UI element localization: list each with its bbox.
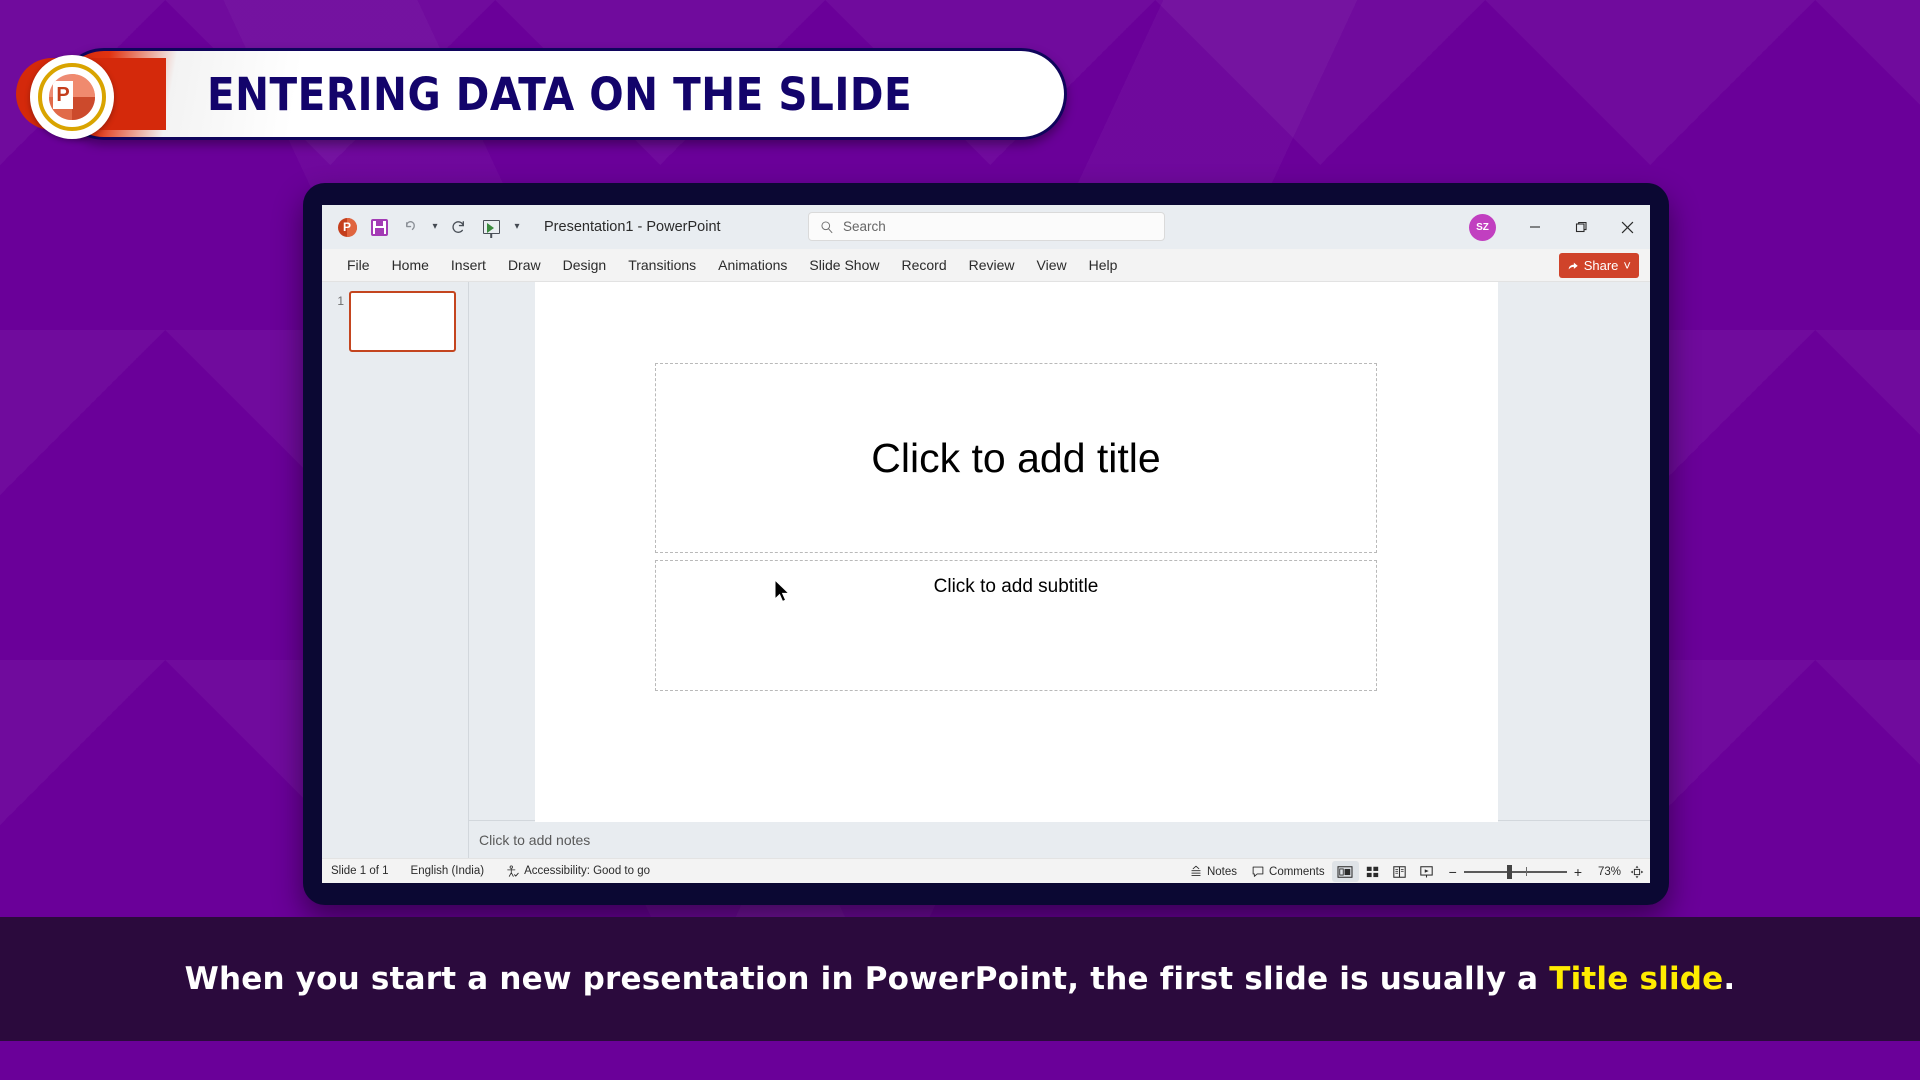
powerpoint-window: P ▾ ▾ Presentation1 - PowerP [322, 205, 1650, 883]
slide-thumbnail-1[interactable] [349, 291, 456, 352]
powerpoint-icon[interactable]: P [332, 212, 362, 242]
badge-gold-ring: P [38, 63, 106, 131]
undo-icon[interactable] [396, 212, 426, 242]
tab-draw[interactable]: Draw [497, 253, 552, 277]
tab-transitions[interactable]: Transitions [617, 253, 707, 277]
caption-highlight: Title slide [1549, 961, 1723, 997]
ppt-icon-letter: P [343, 220, 351, 234]
search-icon [820, 220, 834, 234]
avatar[interactable]: SZ [1469, 214, 1496, 241]
powerpoint-glyph: P [49, 74, 95, 120]
normal-view-icon [1337, 865, 1353, 879]
bottom-purple-strip [0, 1041, 1920, 1080]
slide-title-banner: ENTERING DATA ON THE SLIDE P [14, 48, 1067, 140]
comments-button[interactable]: Comments [1244, 862, 1332, 881]
notes-icon [1189, 865, 1203, 878]
caption-text-after: . [1723, 961, 1735, 997]
comments-button-label: Comments [1269, 866, 1325, 878]
document-title: Presentation1 - PowerPoint [544, 219, 721, 235]
status-bar-right: Notes Comments [1182, 859, 1644, 883]
close-button[interactable] [1604, 205, 1650, 249]
language-label[interactable]: English (India) [411, 865, 485, 877]
search-placeholder: Search [843, 219, 886, 234]
slide-sorter-view-button[interactable] [1359, 861, 1386, 882]
page-title: ENTERING DATA ON THE SLIDE [207, 68, 912, 121]
reading-view-icon [1392, 865, 1407, 879]
reading-view-button[interactable] [1386, 861, 1413, 882]
slide-canvas-wrap: Click to add title Click to add subtitle [469, 282, 1650, 820]
thumbnail-row[interactable]: 1 [322, 291, 468, 352]
zoom-slider-thumb[interactable] [1507, 865, 1512, 879]
app-name: PowerPoint [646, 219, 720, 235]
fit-slide-icon [1630, 865, 1644, 879]
subtitle-placeholder[interactable]: Click to add subtitle [655, 560, 1377, 691]
tab-design[interactable]: Design [552, 253, 618, 277]
slideshow-view-button[interactable] [1413, 861, 1440, 882]
tab-file[interactable]: File [336, 253, 381, 277]
zoom-out-button[interactable]: − [1449, 864, 1457, 880]
caption-text-before: When you start a new presentation in Pow… [185, 961, 1550, 997]
title-bar-right: SZ [1469, 205, 1650, 249]
tab-insert[interactable]: Insert [440, 253, 497, 277]
title-separator: - [638, 219, 643, 235]
tab-animations[interactable]: Animations [707, 253, 798, 277]
notes-button-label: Notes [1207, 866, 1237, 878]
status-bar: Slide 1 of 1 English (India) Accessibili… [322, 858, 1650, 883]
tab-review[interactable]: Review [958, 253, 1026, 277]
comment-icon [1251, 865, 1265, 878]
tab-view[interactable]: View [1026, 253, 1078, 277]
slide-count-label[interactable]: Slide 1 of 1 [331, 865, 389, 877]
powerpoint-logo-icon: P [30, 55, 114, 139]
tab-slide-show[interactable]: Slide Show [798, 253, 890, 277]
redo-icon[interactable] [444, 212, 474, 242]
zoom-slider-midpoint [1526, 867, 1527, 876]
zoom-in-button[interactable]: + [1574, 864, 1582, 880]
editor-body: 1 Click to add title Click to add subtit… [322, 282, 1650, 858]
mouse-cursor-icon [773, 579, 793, 606]
customize-qat-icon[interactable]: ▾ [508, 212, 526, 242]
title-placeholder[interactable]: Click to add title [655, 363, 1377, 553]
minimize-button[interactable] [1512, 205, 1558, 249]
slideshow-icon [1419, 865, 1434, 879]
status-bar-left: Slide 1 of 1 English (India) Accessibili… [331, 865, 650, 878]
title-bar: P ▾ ▾ Presentation1 - PowerP [322, 205, 1650, 249]
caption-text: When you start a new presentation in Pow… [185, 961, 1736, 997]
accessibility-status[interactable]: Accessibility: Good to go [506, 865, 650, 878]
tab-help[interactable]: Help [1078, 253, 1129, 277]
share-caret-icon: ˅ [1623, 258, 1631, 273]
restore-button[interactable] [1558, 205, 1604, 249]
normal-view-button[interactable] [1332, 861, 1359, 882]
slide-canvas[interactable]: Click to add title Click to add subtitle [535, 282, 1498, 822]
start-presentation-icon[interactable] [476, 212, 506, 242]
notes-pane[interactable]: Click to add notes [469, 820, 1650, 858]
share-button[interactable]: Share ˅ [1559, 253, 1639, 278]
thumbnail-number: 1 [328, 294, 344, 308]
undo-dropdown-icon[interactable]: ▾ [428, 212, 442, 242]
slide-editing-area: Click to add title Click to add subtitle… [469, 282, 1650, 858]
quick-access-toolbar: P ▾ ▾ [332, 212, 526, 242]
tab-home[interactable]: Home [381, 253, 440, 277]
notes-placeholder: Click to add notes [479, 832, 590, 848]
caption-bar: When you start a new presentation in Pow… [0, 917, 1920, 1041]
document-name: Presentation1 [544, 219, 633, 235]
tab-record[interactable]: Record [890, 253, 957, 277]
fit-to-window-button[interactable] [1630, 865, 1644, 879]
zoom-level-label[interactable]: 73% [1589, 866, 1621, 878]
accessibility-icon [506, 865, 519, 878]
ribbon-tabs: File Home Insert Draw Design Transitions… [322, 249, 1650, 282]
share-label: Share [1584, 258, 1619, 273]
badge-inner: P [47, 72, 97, 122]
zoom-slider[interactable] [1464, 871, 1567, 873]
share-icon [1567, 260, 1579, 272]
search-input[interactable]: Search [808, 212, 1165, 241]
slide-thumbnail-pane: 1 [322, 282, 469, 858]
powerpoint-p-letter: P [53, 81, 73, 109]
accessibility-label: Accessibility: Good to go [524, 865, 650, 877]
save-icon[interactable] [364, 212, 394, 242]
slide-sorter-icon [1365, 865, 1380, 879]
banner-shape: ENTERING DATA ON THE SLIDE [58, 48, 1067, 140]
zoom-control: − + 73% [1449, 864, 1644, 880]
notes-button[interactable]: Notes [1182, 862, 1244, 881]
